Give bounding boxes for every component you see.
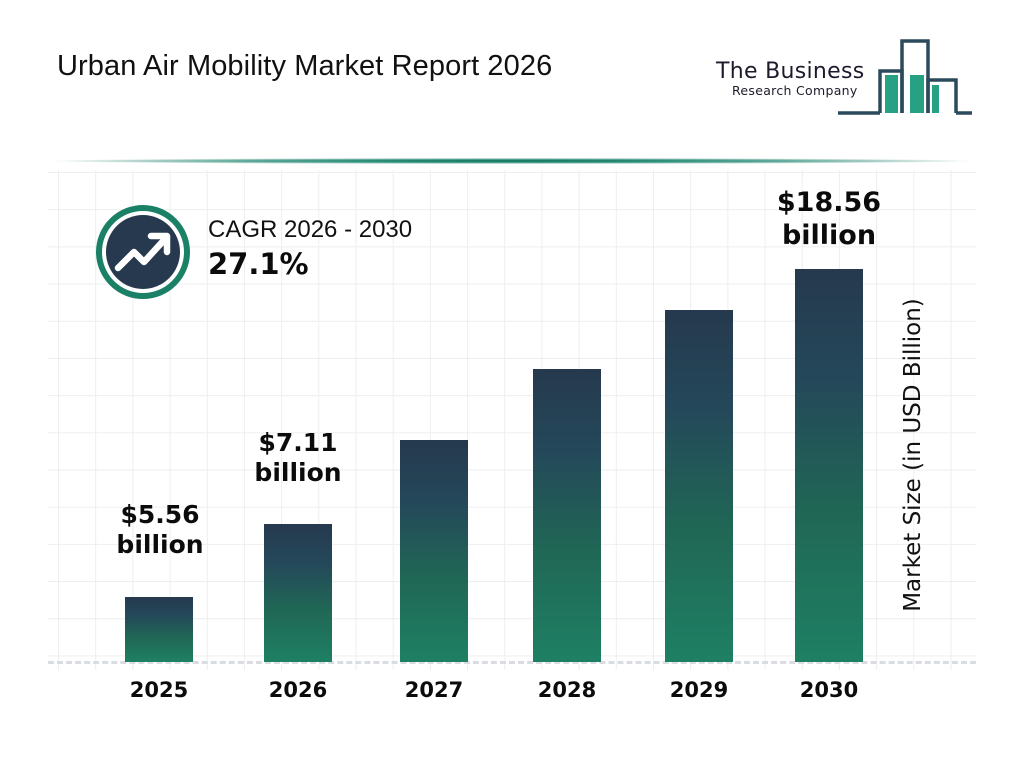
bar-value-label-2026: $7.11 billion [233,428,363,488]
x-axis-label-2029: 2029 [634,678,764,702]
bar-2025 [125,597,193,662]
y-axis-title: Market Size (in USD Billion) [900,0,926,270]
bar-value-label-2030: $18.56 billion [764,186,894,252]
bar-2027 [400,440,468,662]
x-axis-label-2028: 2028 [502,678,632,702]
cagr-badge: CAGR 2026 - 2030 27.1% [96,205,516,305]
trend-up-arrow-icon [96,205,190,299]
chart-canvas: Urban Air Mobility Market Report 2026 Th… [0,0,1024,768]
x-axis-label-2030: 2030 [764,678,894,702]
cagr-label: CAGR 2026 - 2030 [208,215,412,245]
bar-2028 [533,369,601,662]
bar-series [0,0,1024,768]
x-axis-label-2027: 2027 [369,678,499,702]
cagr-text-block: CAGR 2026 - 2030 27.1% [208,215,412,283]
bar-value-label-2025: $5.56 billion [95,500,225,560]
bar-2026 [264,524,332,662]
x-axis-label-2026: 2026 [233,678,363,702]
cagr-value: 27.1% [208,245,412,283]
bar-2029 [665,310,733,662]
y-axis-title-text: Market Size (in USD Billion) [900,270,926,640]
bar-2030 [795,269,863,662]
x-axis-label-2025: 2025 [94,678,224,702]
